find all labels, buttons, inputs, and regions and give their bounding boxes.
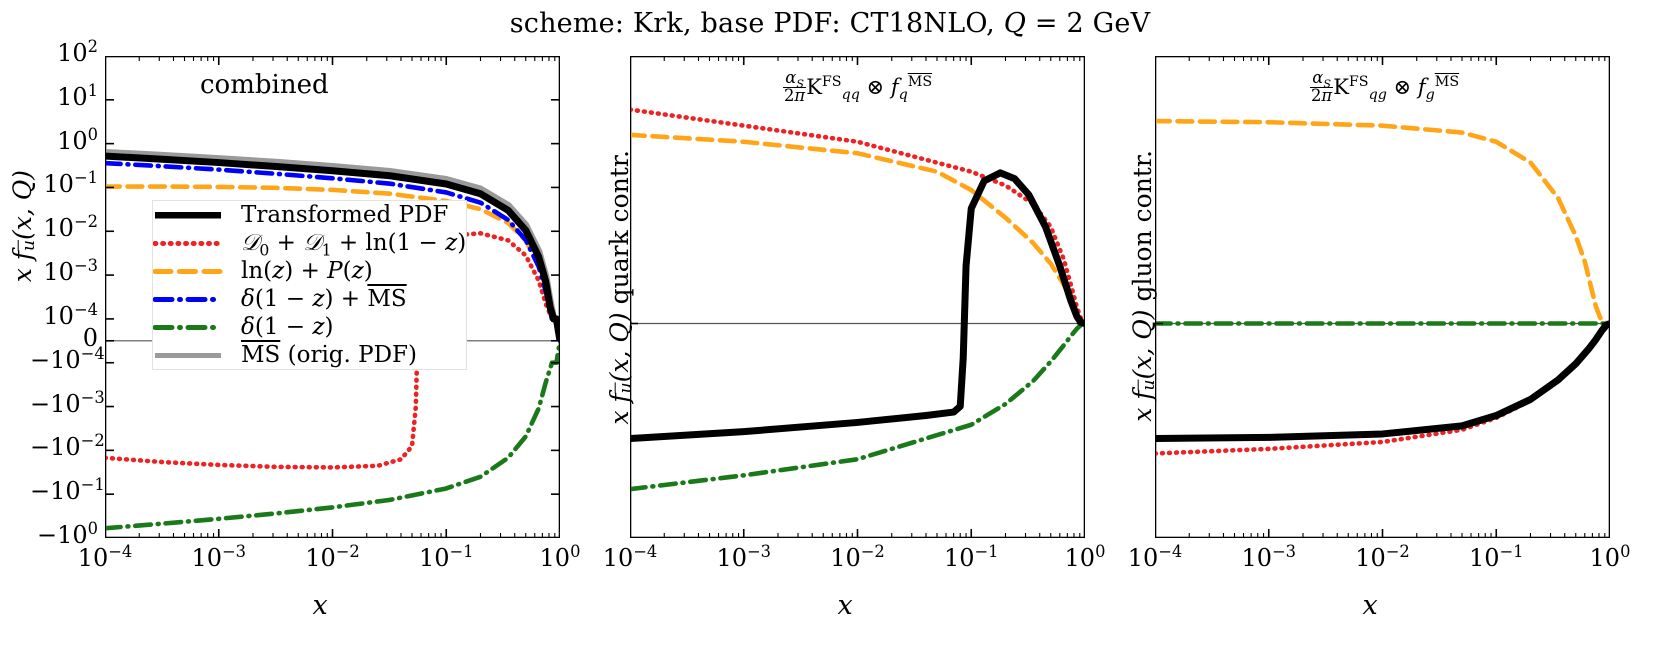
y-tick-label: −10−4 [30,346,98,374]
legend-item: Transformed PDF [153,201,466,229]
x-tick-label: 10−4 [1110,544,1200,572]
legend: Transformed PDF𝒟0 + 𝒟1 + ln(1 − z)ln(z) … [152,200,467,370]
x-tick-label: 10−2 [288,544,378,572]
legend-swatch [153,285,241,313]
x-tick-label: 10−1 [926,544,1016,572]
y-tick-label: 10−1 [30,170,98,198]
x-tick-label: 10−3 [174,544,264,572]
kernel-kqg: KFSqg [1333,75,1387,99]
legend-item: δ(1 − z) + MS [153,285,466,313]
y-axis-label-gluon: x fu(x, Q) gluon contr. [1128,150,1157,422]
suptitle-q-suffix: = 2 GeV [1026,8,1150,39]
x-tick-label: 10−3 [699,544,789,572]
pdf-fq: fqMS [891,75,932,99]
legend-table: Transformed PDF𝒟0 + 𝒟1 + ln(1 − z)ln(z) … [153,201,466,369]
suptitle-scheme-prefix: scheme: [510,8,633,39]
x-tick-label: 10−1 [1451,544,1541,572]
figure-suptitle: scheme: Krk, base PDF: CT18NLO, Q = 2 Ge… [0,8,1660,39]
x-tick-label: 10−4 [585,544,675,572]
legend-swatch [153,229,241,257]
legend-swatch [153,341,241,369]
suptitle-base-value: CT18NLO [850,8,987,39]
suptitle-base-prefix: , base PDF: [683,8,850,39]
panel-formula-gluon: αS2πKFSqg ⊗ fgMS [1310,70,1459,104]
y-axis-label-quark: x fu(x, Q) quark contr. [605,150,634,425]
y-tick-label: 102 [30,39,98,67]
pdf-fg: fgMS [1418,75,1459,99]
alpha-over-2pi-fraction: αS2π [1310,70,1333,104]
y-tick-label: 10−2 [30,214,98,242]
otimes-icon: ⊗ [867,75,885,99]
otimes-icon: ⊗ [1394,75,1412,99]
panel-quark [630,56,1085,538]
suptitle-scheme-value: Krk [633,8,683,39]
legend-label: δ(1 − z) + MS [241,285,466,313]
suptitle-q-symbol: Q [1004,8,1026,39]
alpha-over-2pi-fraction: αS2π [783,70,806,104]
y-tick-label: 100 [30,127,98,155]
y-tick-label: −10−3 [30,390,98,418]
legend-label: MS (orig. PDF) [241,341,466,369]
legend-swatch [153,313,241,341]
x-tick-label: 10−2 [1338,544,1428,572]
legend-item: ln(z) + P(z) [153,257,466,285]
legend-label: ln(z) + P(z) [241,257,466,285]
panel-formula-quark: αS2πKFSqq ⊗ fqMS [783,70,932,104]
kernel-kqq: KFSqq [806,75,860,99]
x-axis-label: x [313,590,328,621]
panel-gluon [1155,56,1610,538]
legend-item: 𝒟0 + 𝒟1 + ln(1 − z) [153,229,466,257]
legend-swatch [153,257,241,285]
x-tick-label: 10−1 [401,544,491,572]
x-tick-label: 100 [1565,544,1655,572]
figure-root: scheme: Krk, base PDF: CT18NLO, Q = 2 Ge… [0,0,1660,667]
y-tick-label: −10−1 [30,477,98,505]
panel-tag-combined: combined [200,70,329,100]
suptitle-q-prefix: , [986,8,1004,39]
y-tick-label: −100 [30,521,98,549]
x-tick-label: 10−3 [1224,544,1314,572]
legend-label: Transformed PDF [241,201,466,229]
plot-area-gluon [1155,56,1610,538]
x-axis-label: x [838,590,853,621]
legend-label: 𝒟0 + 𝒟1 + ln(1 − z) [241,229,466,257]
x-tick-label: 10−2 [813,544,903,572]
y-tick-label: 10−3 [30,258,98,286]
y-tick-label: 101 [30,83,98,111]
legend-label: δ(1 − z) [241,313,466,341]
legend-item: MS (orig. PDF) [153,341,466,369]
x-axis-label: x [1363,590,1378,621]
plot-area-quark [630,56,1085,538]
y-tick-label: −10−2 [30,433,98,461]
legend-swatch [153,201,241,229]
legend-item: δ(1 − z) [153,313,466,341]
